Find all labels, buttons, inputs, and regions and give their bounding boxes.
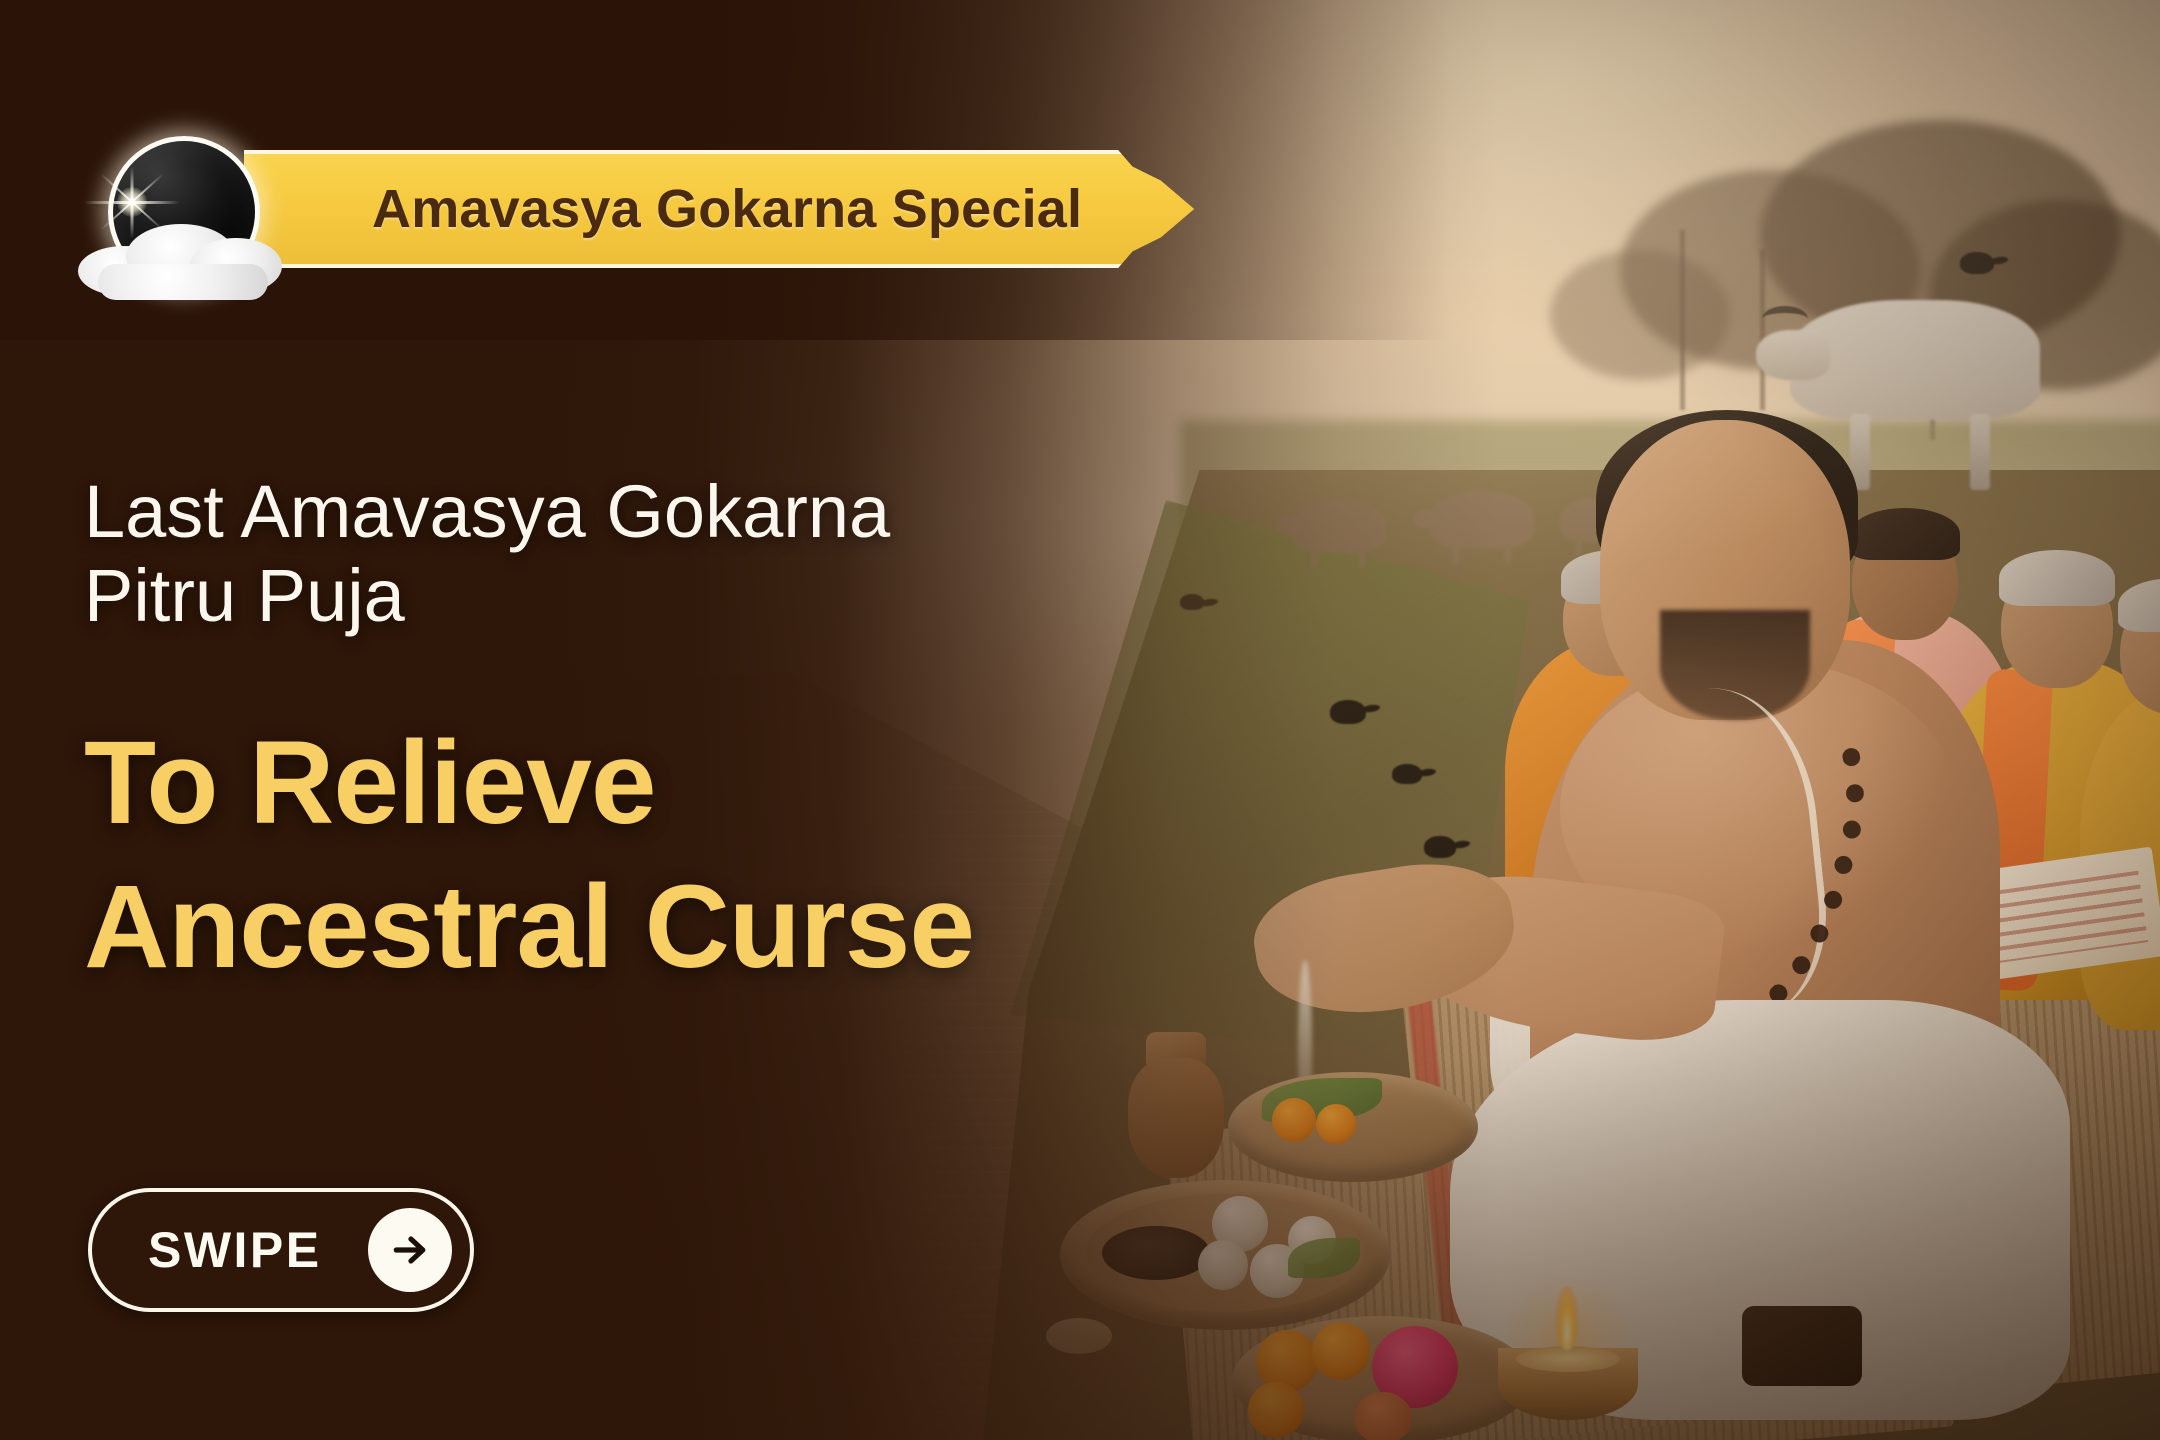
solar-eclipse-icon xyxy=(78,128,288,308)
swipe-button-label: SWIPE xyxy=(148,1221,322,1279)
title-line-2: Ancestral Curse xyxy=(84,856,1384,1000)
title-line-1: To Relieve xyxy=(84,712,1384,856)
content-layer: Amavasya Gokarna Special Last Amavasya G… xyxy=(0,0,2160,1440)
subtitle-line-1: Last Amavasya Gokarna xyxy=(84,470,1264,554)
cloud-icon xyxy=(98,264,268,300)
special-banner: Amavasya Gokarna Special xyxy=(244,150,1194,268)
poster-canvas: Amavasya Gokarna Special Last Amavasya G… xyxy=(0,0,2160,1440)
page-title: To Relieve Ancestral Curse xyxy=(84,712,1384,1000)
subtitle: Last Amavasya Gokarna Pitru Puja xyxy=(84,470,1264,639)
arrow-right-icon[interactable] xyxy=(368,1208,452,1292)
special-banner-label: Amavasya Gokarna Special xyxy=(372,178,1082,240)
swipe-button[interactable]: SWIPE xyxy=(88,1188,474,1312)
subtitle-line-2: Pitru Puja xyxy=(84,554,1264,638)
